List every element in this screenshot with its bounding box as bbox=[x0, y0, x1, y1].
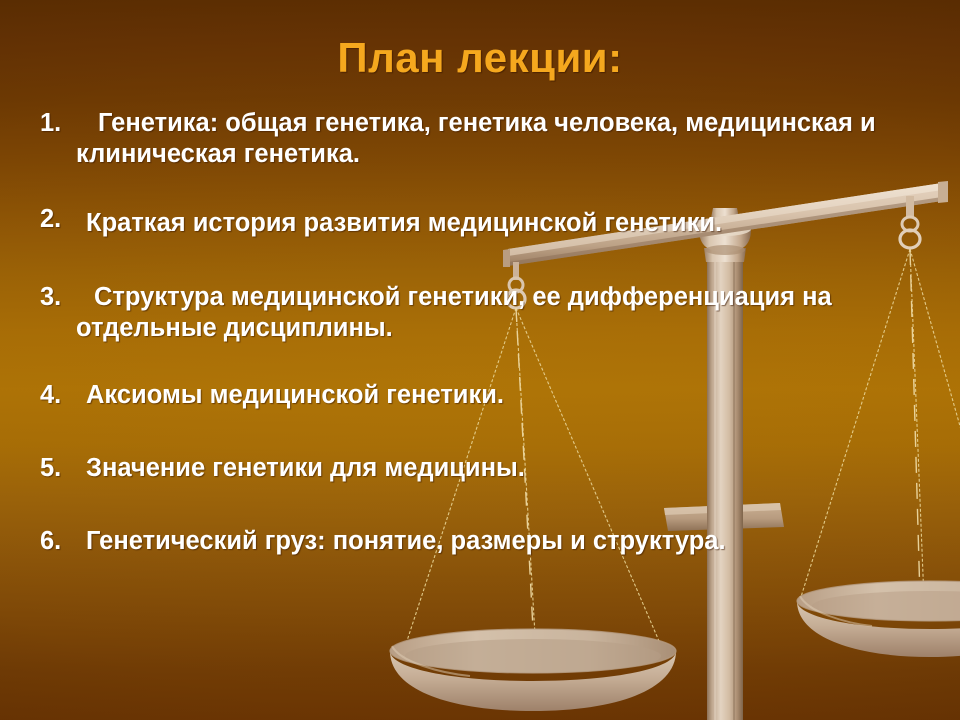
list-item-text: Аксиомы медицинской генетики. bbox=[76, 380, 892, 411]
list-item: 6. Генетический груз: понятие, размеры и… bbox=[40, 526, 892, 557]
list-item-text: Генетический груз: понятие, размеры и ст… bbox=[76, 526, 892, 557]
list-item: 4. Аксиомы медицинской генетики. bbox=[40, 380, 892, 411]
lecture-plan-list: 1. Генетика: общая генетика, генетика че… bbox=[40, 108, 892, 574]
list-item: 5. Значение генетики для медицины. bbox=[40, 453, 892, 484]
list-item-text: Структура медицинской генетики, ее диффе… bbox=[76, 282, 892, 344]
page-title: План лекции: bbox=[0, 34, 960, 82]
list-item: 3. Структура медицинской генетики, ее ди… bbox=[40, 282, 892, 344]
list-item-text: Краткая история развития медицинской ген… bbox=[76, 204, 892, 244]
list-item-number: 1. bbox=[40, 108, 76, 139]
list-item-number: 4. bbox=[40, 380, 76, 411]
list-item-number: 2. bbox=[40, 204, 76, 235]
slide-content: План лекции: 1. Генетика: общая генетика… bbox=[0, 0, 960, 720]
list-item-text: Генетика: общая генетика, генетика челов… bbox=[76, 108, 892, 170]
list-item: 2. Краткая история развития медицинской … bbox=[40, 204, 892, 244]
slide-canvas: План лекции: 1. Генетика: общая генетика… bbox=[0, 0, 960, 720]
list-item-number: 3. bbox=[40, 282, 76, 313]
list-item-number: 5. bbox=[40, 453, 76, 484]
list-item: 1. Генетика: общая генетика, генетика че… bbox=[40, 108, 892, 170]
list-item-number: 6. bbox=[40, 526, 76, 557]
list-item-text: Значение генетики для медицины. bbox=[76, 453, 892, 484]
